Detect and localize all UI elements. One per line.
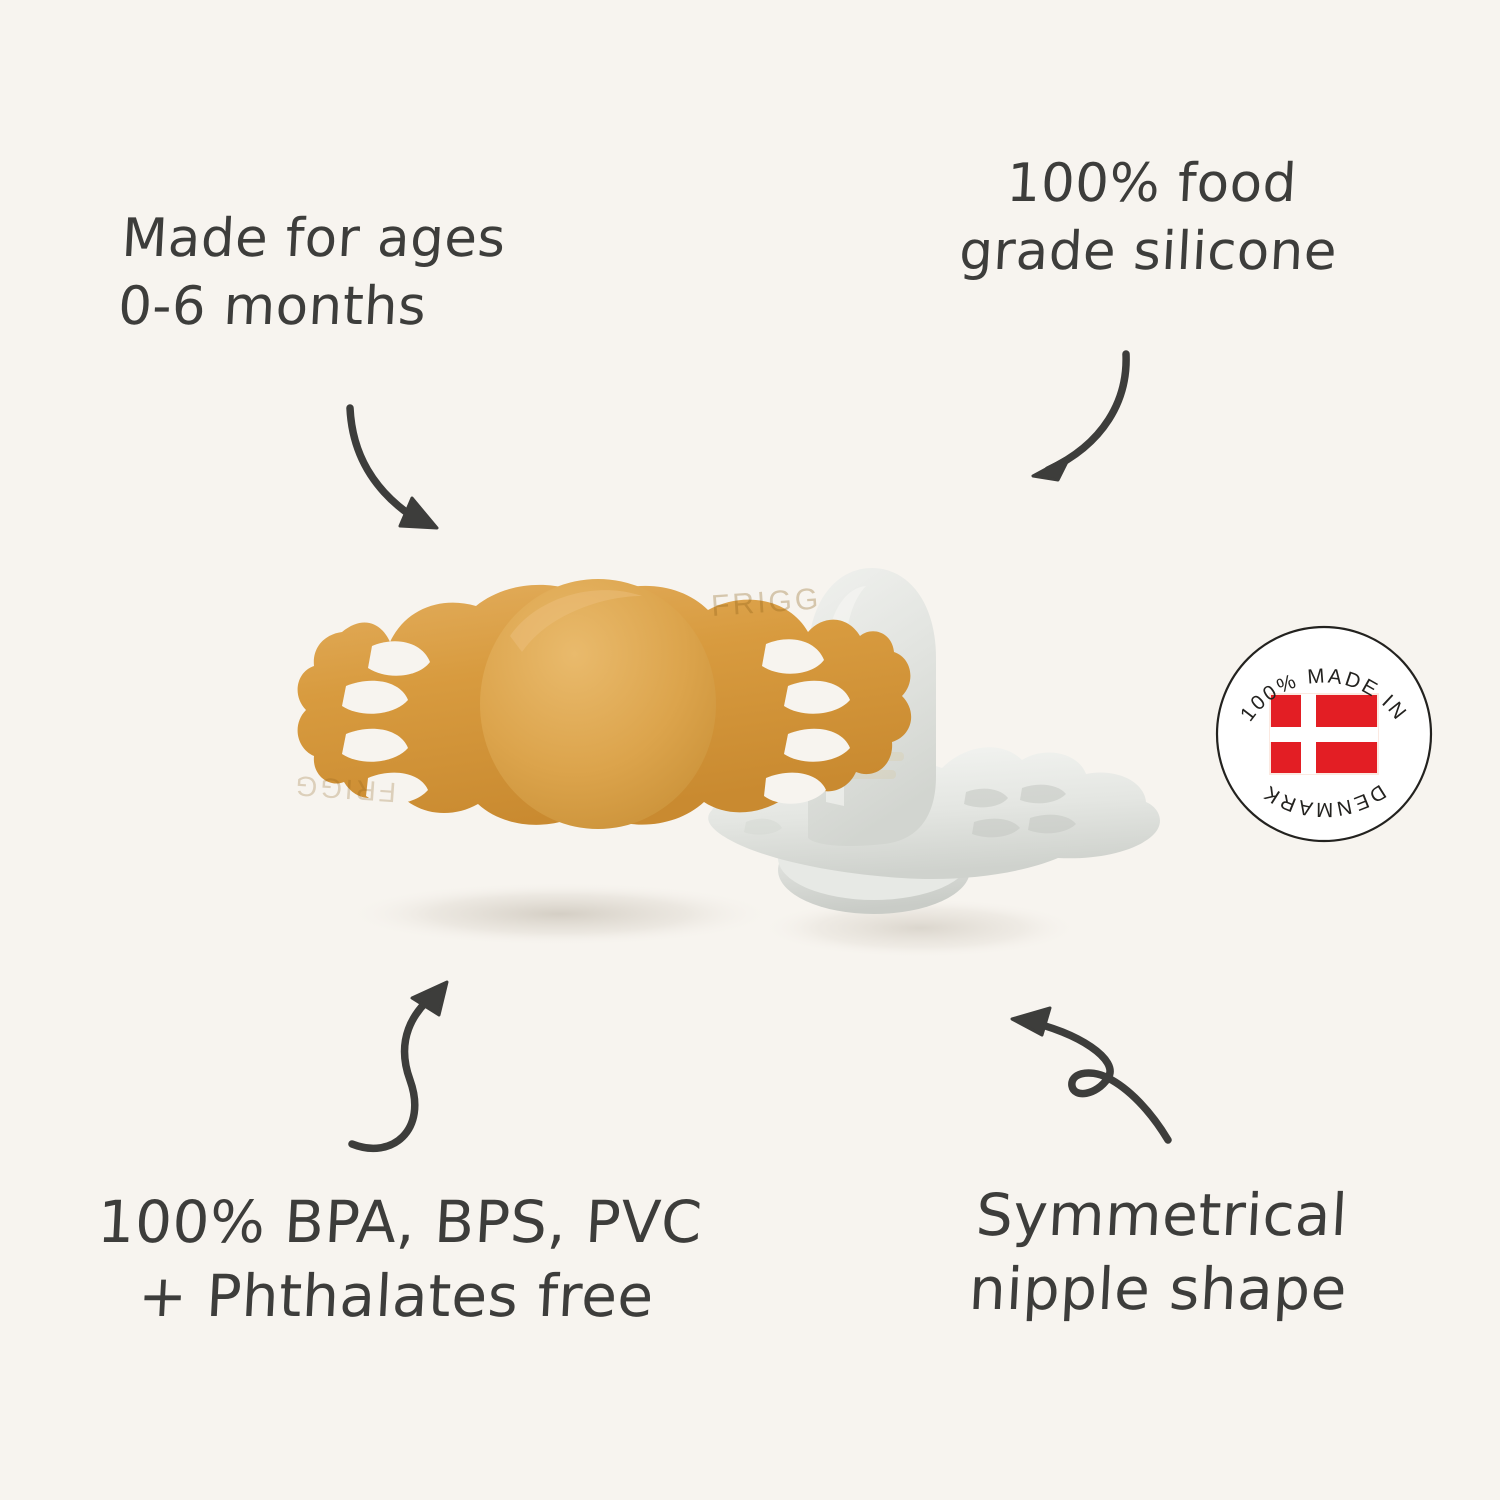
svg-text:FRIGG: FRIGG [710,582,822,623]
caption-bpa-free: 100% BPA, BPS, PVC + Phthalates free [24,1185,772,1333]
caption-symmetrical-nipple: Symmetrical nipple shape [896,1178,1424,1326]
honey-center-button [480,579,716,829]
arrow-down-left-icon [1000,330,1200,510]
pacifier-pair-illustration: FRIGG FRIGG [260,540,1240,990]
arrow-s-curve-up-right-icon [330,968,515,1173]
product-photo: FRIGG FRIGG [260,540,1240,990]
honey-emboss-frigg-top: FRIGG [710,582,822,623]
arrow-looped-up-left-icon [988,988,1203,1173]
infographic-canvas: Made for ages 0-6 months 100% food grade… [0,0,1500,1500]
shadow-honey-pacifier [345,882,775,946]
danish-flag-icon [1270,694,1378,774]
caption-made-for-ages: Made for ages 0-6 months [116,205,683,341]
made-in-denmark-badge: 100% MADE IN DENMARK [1212,622,1436,846]
caption-food-grade-silicone: 100% food grade silicone [876,150,1423,286]
